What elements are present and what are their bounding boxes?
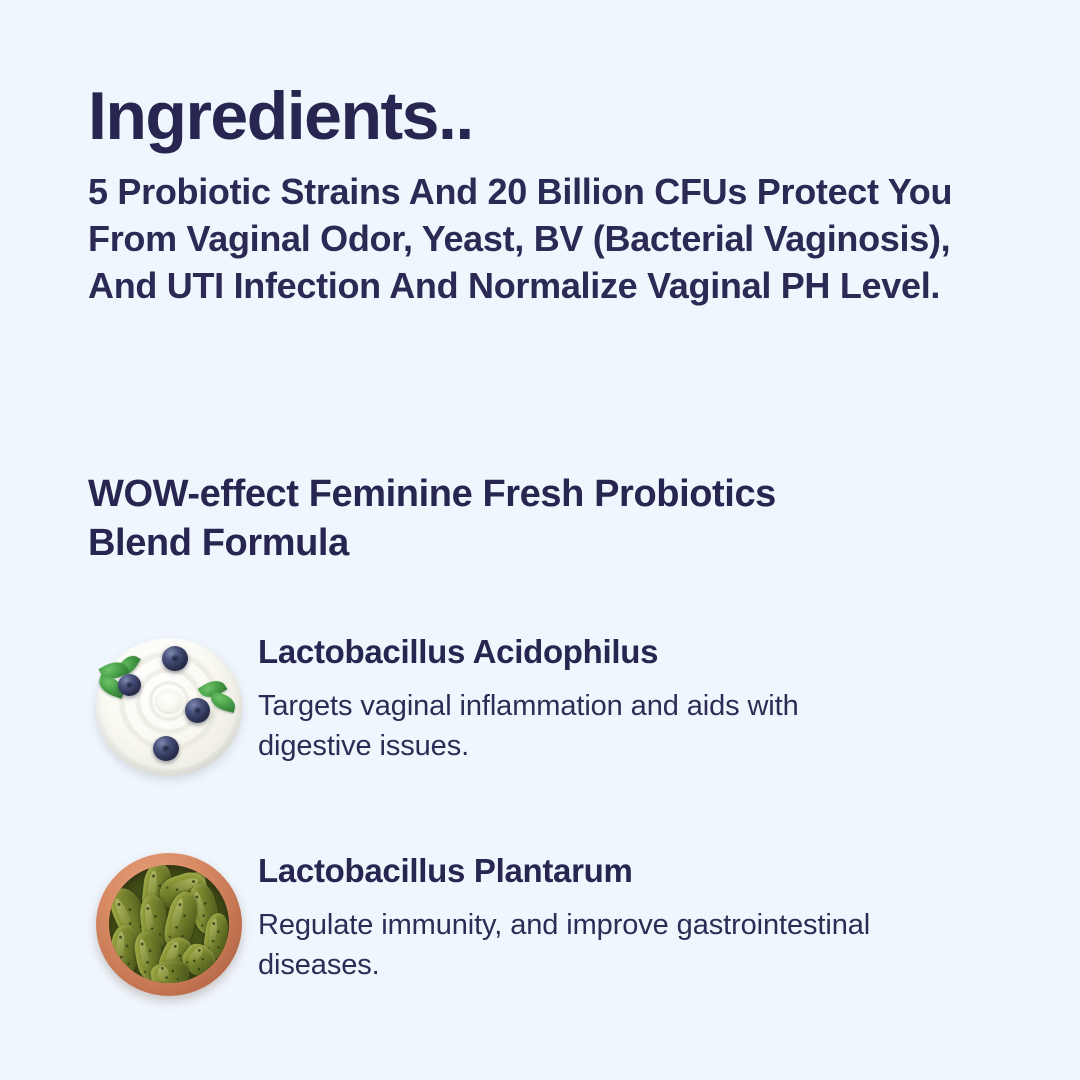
blueberry-icon [153, 736, 179, 761]
pickle-art [96, 853, 244, 999]
ingredient-text: Lactobacillus Plantarum Regulate immunit… [258, 847, 918, 985]
blueberry-icon [162, 646, 188, 671]
list-item: Lactobacillus Acidophilus Targets vagina… [88, 628, 988, 783]
list-item: Lactobacillus Plantarum Regulate immunit… [88, 847, 988, 1002]
yogurt-art [96, 636, 242, 778]
ingredient-list: Lactobacillus Acidophilus Targets vagina… [88, 628, 988, 1002]
ingredient-name: Lactobacillus Plantarum [258, 851, 918, 891]
ingredient-description: Regulate immunity, and improve gastroint… [258, 905, 918, 985]
page-title: Ingredients.. [88, 82, 988, 150]
section-heading: WOW-effect Feminine Fresh Probiotics Ble… [88, 470, 868, 567]
blueberry-icon [118, 674, 141, 696]
ingredient-text: Lactobacillus Acidophilus Targets vagina… [258, 628, 918, 766]
ingredient-description: Targets vaginal inflammation and aids wi… [258, 686, 918, 766]
pickle-bowl-image [88, 847, 248, 1002]
yogurt-bowl-image [88, 628, 248, 783]
blueberry-icon [185, 698, 210, 723]
ingredients-page: Ingredients.. 5 Probiotic Strains And 20… [0, 0, 1080, 1080]
bowl-interior-shape [109, 865, 229, 983]
header-block: Ingredients.. 5 Probiotic Strains And 20… [88, 82, 988, 309]
page-subtitle: 5 Probiotic Strains And 20 Billion CFUs … [88, 168, 968, 309]
swirl-center-shape [156, 690, 182, 712]
ingredient-name: Lactobacillus Acidophilus [258, 632, 918, 672]
